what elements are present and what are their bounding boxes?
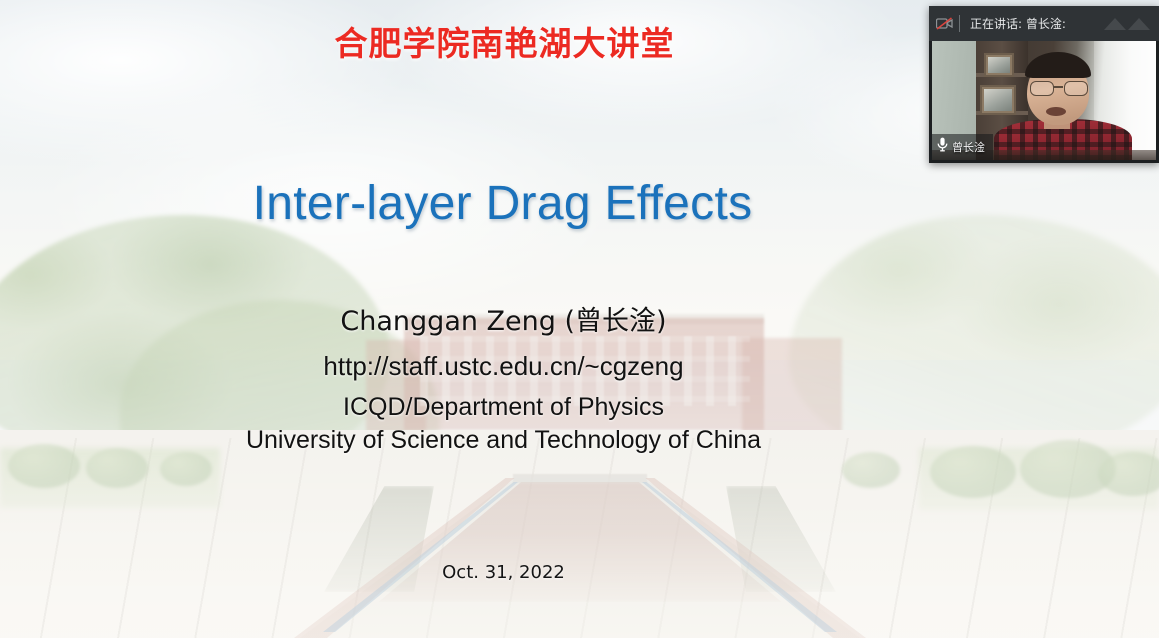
video-person-mouth — [1046, 107, 1066, 116]
slide-affiliation-department: ICQD/Department of Physics — [246, 391, 761, 424]
video-picture-frame — [984, 53, 1014, 77]
slide-date: Oct. 31, 2022 — [0, 562, 1159, 583]
now-speaking-label: 正在讲话: 曾长淦: — [960, 15, 1104, 32]
glasses-lens-left — [1030, 81, 1054, 96]
video-picture-frame-art — [988, 57, 1010, 73]
video-participant-name: 曾长淦 — [952, 139, 985, 155]
slide-date-text: Oct. 31, 2022 — [442, 562, 565, 583]
glasses-lens-right — [1064, 81, 1088, 96]
presentation-screen: 合肥学院南艳湖大讲堂 Inter-layer Drag Effects Chan… — [0, 0, 1159, 638]
video-self-view-panel[interactable]: 正在讲话: 曾长淦: — [929, 6, 1159, 163]
slide-author-block: Changgan Zeng (曾长淦) http://staff.ustc.ed… — [0, 305, 1159, 457]
video-person-glasses — [1030, 81, 1086, 94]
slide-title: Inter-layer Drag Effects — [0, 176, 1159, 231]
video-picture-frame — [980, 85, 1016, 115]
glasses-bridge — [1053, 86, 1063, 88]
video-participant-namebar: 曾长淦 — [932, 134, 993, 160]
video-off-icon[interactable] — [929, 6, 959, 41]
video-picture-frame-art — [984, 89, 1012, 111]
chevron-up-icon[interactable] — [1128, 18, 1150, 30]
panel-collapse-controls[interactable] — [1104, 18, 1159, 30]
chevron-up-icon[interactable] — [1104, 18, 1126, 30]
slide-author-inner: Changgan Zeng (曾长淦) http://staff.ustc.ed… — [246, 305, 761, 457]
video-panel-header[interactable]: 正在讲话: 曾长淦: — [929, 6, 1159, 41]
slide-author-url: http://staff.ustc.edu.cn/~cgzeng — [246, 349, 761, 383]
video-feed[interactable]: 曾长淦 — [932, 41, 1156, 160]
microphone-icon — [937, 137, 948, 157]
slide-title-text: Inter-layer Drag Effects — [253, 176, 753, 231]
slide-affiliation-university: University of Science and Technology of … — [246, 424, 761, 457]
slide-author-name: Changgan Zeng (曾长淦) — [246, 305, 761, 339]
slide-chinese-header-text: 合肥学院南艳湖大讲堂 — [335, 17, 675, 65]
